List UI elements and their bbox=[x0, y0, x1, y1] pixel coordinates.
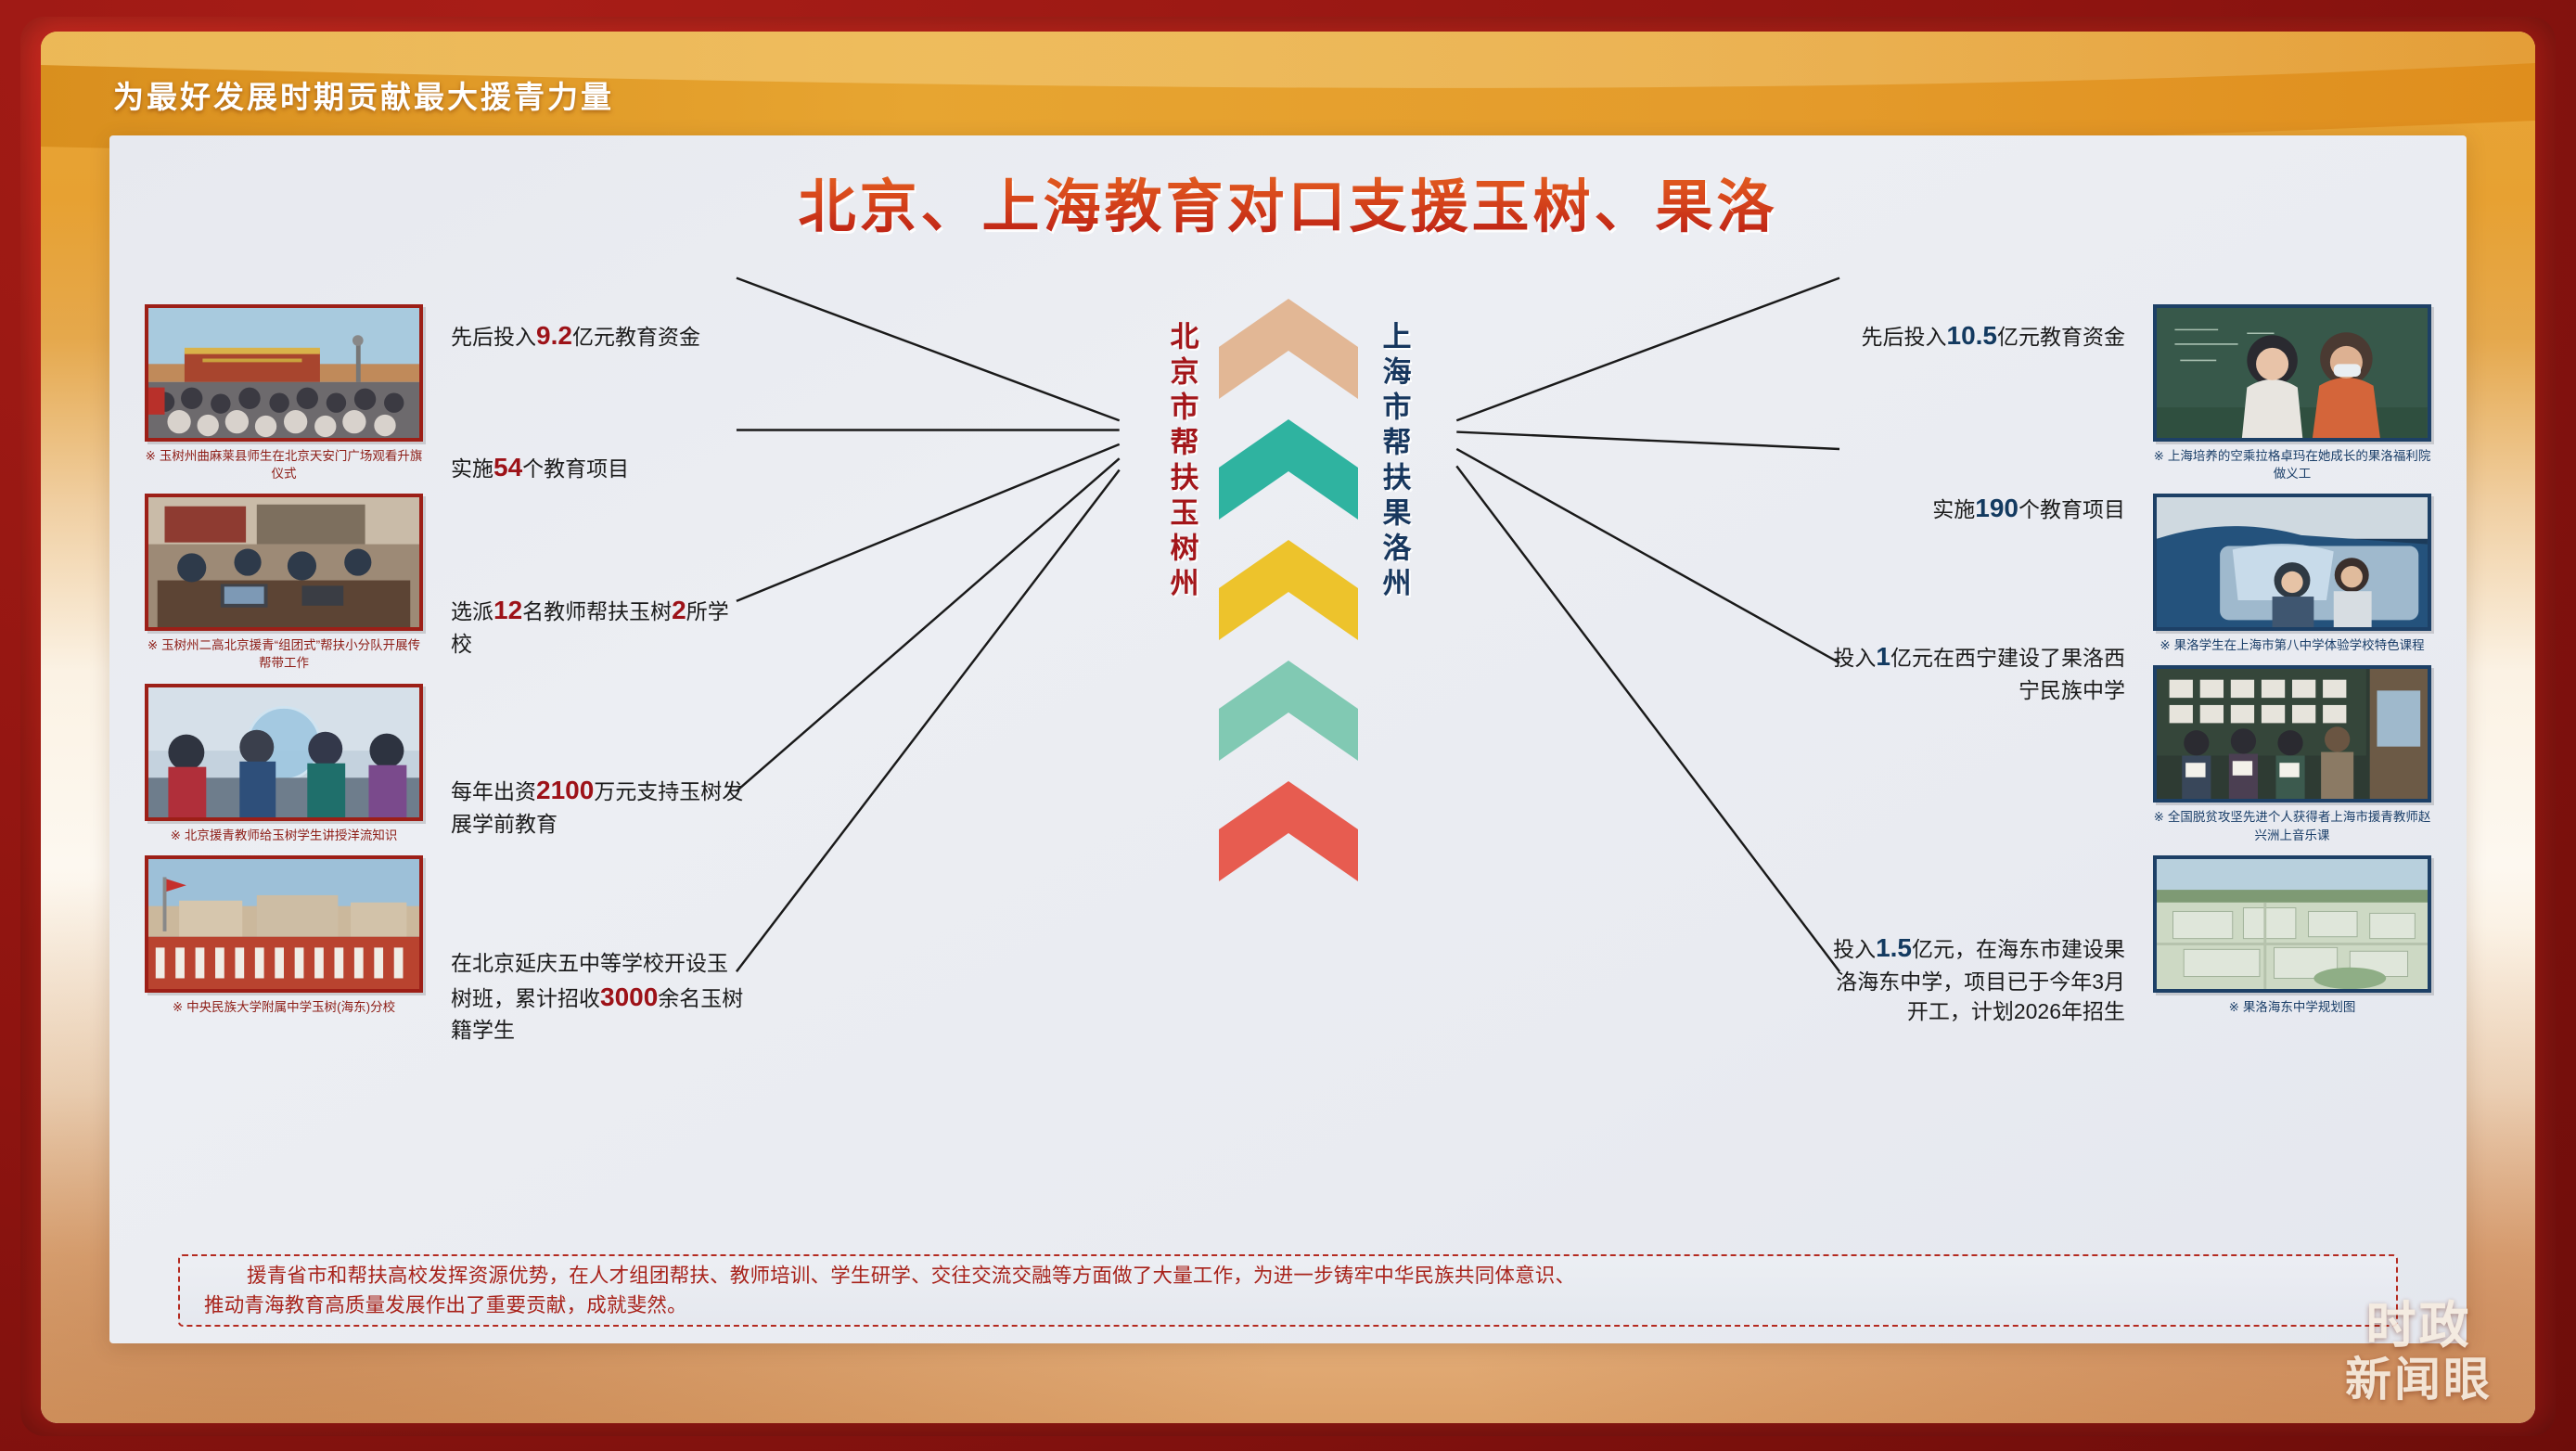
photo-column-right: ※上海培养的空乘拉格卓玛在她成长的果洛福利院做义工 bbox=[2153, 304, 2431, 1027]
stat-right-3: 投入1亿元在西宁建设了果洛西宁民族中学 bbox=[1828, 638, 2125, 705]
stat-value: 54 bbox=[493, 453, 522, 482]
caption-text: 中央民族大学附属中学玉树(海东)分校 bbox=[186, 1000, 395, 1014]
stat-right-2: 实施190个教育项目 bbox=[1828, 490, 2125, 527]
photo-item: ※玉树州曲麻莱县师生在北京天安门广场观看升旗仪式 bbox=[145, 304, 423, 482]
chevron-4 bbox=[1219, 661, 1358, 761]
stat-text: 实施 bbox=[1932, 497, 1975, 521]
photo-campus-plan bbox=[2153, 855, 2431, 993]
chevron-5 bbox=[1219, 781, 1358, 881]
stat-left-2: 实施54个教育项目 bbox=[451, 449, 748, 486]
stat-text: 亿元在西宁建设了果洛西宁民族中学 bbox=[1890, 646, 2125, 702]
stat-left-3: 选派12名教师帮扶玉树2所学校 bbox=[451, 592, 748, 659]
chevron-2 bbox=[1219, 419, 1358, 520]
stat-value: 3000 bbox=[600, 982, 658, 1011]
stat-left-1: 先后投入9.2亿元教育资金 bbox=[451, 317, 748, 354]
stat-text: 个教育项目 bbox=[522, 456, 629, 481]
photo-caption: ※北京援青教师给玉树学生讲授洋流知识 bbox=[145, 827, 423, 844]
caption-text: 玉树州曲麻莱县师生在北京天安门广场观看升旗仪式 bbox=[160, 449, 423, 481]
caption-text: 果洛学生在上海市第八中学体验学校特色课程 bbox=[2174, 638, 2425, 652]
stat-text: 名教师帮扶玉树 bbox=[522, 599, 672, 623]
caption-mark: ※ bbox=[2154, 449, 2164, 463]
photo-caption: ※玉树州二高北京援青“组团式”帮扶小分队开展传帮带工作 bbox=[145, 636, 423, 672]
content-card: 北京、上海教育对口支援玉树、果洛 bbox=[109, 135, 2467, 1343]
caption-mark: ※ bbox=[146, 449, 156, 463]
stat-right-4: 投入1.5亿元，在海东市建设果洛海东中学，项目已于今年3月开工，计划2026年招… bbox=[1828, 930, 2125, 1027]
page-title: 北京、上海教育对口支援玉树、果洛 bbox=[109, 160, 2467, 243]
caption-mark: ※ bbox=[171, 828, 181, 842]
poster-stage: 为最好发展时期贡献最大援青力量 北京、上海教育对口支援玉树、果洛 bbox=[0, 0, 2576, 1451]
stat-left-5: 在北京延庆五中等学校开设玉树班，累计招收3000余名玉树籍学生 bbox=[451, 948, 748, 1046]
summary-line-2: 推动青海教育高质量发展作出了重要贡献，成就斐然。 bbox=[204, 1290, 2372, 1320]
photo-minzu-campus bbox=[145, 855, 423, 993]
label-shanghai-support: 上海市帮扶果洛州 bbox=[1374, 321, 1416, 603]
caption-text: 全国脱贫攻坚先进个人获得者上海市援青教师赵兴洲上音乐课 bbox=[2168, 810, 2431, 841]
info-board: 为最好发展时期贡献最大援青力量 北京、上海教育对口支援玉树、果洛 bbox=[41, 32, 2535, 1423]
photo-item: ※果洛学生在上海市第八中学体验学校特色课程 bbox=[2153, 494, 2431, 654]
stat-value: 12 bbox=[493, 596, 522, 624]
chevron-1 bbox=[1219, 299, 1358, 399]
stat-text: 亿元教育资金 bbox=[572, 325, 700, 349]
label-beijing-support: 北京市帮扶玉树州 bbox=[1161, 321, 1203, 603]
caption-mark: ※ bbox=[2154, 810, 2164, 824]
stat-text: 先后投入 bbox=[451, 325, 536, 349]
caption-mark: ※ bbox=[173, 1000, 183, 1014]
photo-item: ※玉树州二高北京援青“组团式”帮扶小分队开展传帮带工作 bbox=[145, 494, 423, 672]
stat-value: 1 bbox=[1876, 642, 1890, 671]
stat-text: 个教育项目 bbox=[2019, 497, 2125, 521]
stat-value: 9.2 bbox=[536, 321, 572, 350]
stat-value: 2100 bbox=[536, 776, 594, 804]
stat-text: 每年出资 bbox=[451, 779, 536, 803]
summary-line-1: 援青省市和帮扶高校发挥资源优势，在人才组团帮扶、教师培训、学生研学、交往交流交融… bbox=[204, 1261, 2372, 1290]
photo-caption: ※中央民族大学附属中学玉树(海东)分校 bbox=[145, 998, 423, 1016]
stat-value: 1.5 bbox=[1876, 933, 1912, 962]
photo-item: ※全国脱贫攻坚先进个人获得者上海市援青教师赵兴洲上音乐课 bbox=[2153, 665, 2431, 843]
caption-mark: ※ bbox=[2159, 638, 2170, 652]
photo-volunteer bbox=[2153, 304, 2431, 442]
stat-text: 先后投入 bbox=[1862, 325, 1947, 349]
stat-value: 2 bbox=[672, 596, 686, 624]
stat-right-1: 先后投入10.5亿元教育资金 bbox=[1828, 317, 2125, 354]
photo-caption: ※全国脱贫攻坚先进个人获得者上海市援青教师赵兴洲上音乐课 bbox=[2153, 808, 2431, 843]
photo-caption: ※上海培养的空乘拉格卓玛在她成长的果洛福利院做义工 bbox=[2153, 447, 2431, 482]
photo-shanghai-no8 bbox=[2153, 494, 2431, 631]
photo-tiananmen bbox=[145, 304, 423, 442]
chevron-stack bbox=[1219, 299, 1358, 1134]
stat-text: 投入 bbox=[1833, 937, 1876, 961]
caption-text: 上海培养的空乘拉格卓玛在她成长的果洛福利院做义工 bbox=[2168, 449, 2431, 481]
photo-classroom-meeting bbox=[145, 494, 423, 631]
photo-caption: ※果洛学生在上海市第八中学体验学校特色课程 bbox=[2153, 636, 2431, 654]
caption-text: 玉树州二高北京援青“组团式”帮扶小分队开展传帮带工作 bbox=[161, 638, 420, 670]
stat-text: 实施 bbox=[451, 456, 493, 481]
photo-item: ※中央民族大学附属中学玉树(海东)分校 bbox=[145, 855, 423, 1016]
stat-value: 10.5 bbox=[1947, 321, 1998, 350]
photo-caption: ※果洛海东中学规划图 bbox=[2153, 998, 2431, 1016]
photo-caption: ※玉树州曲麻莱县师生在北京天安门广场观看升旗仪式 bbox=[145, 447, 423, 482]
chevron-3 bbox=[1219, 540, 1358, 640]
summary-box: 援青省市和帮扶高校发挥资源优势，在人才组团帮扶、教师培训、学生研学、交往交流交融… bbox=[178, 1254, 2398, 1327]
photo-item: ※上海培养的空乘拉格卓玛在她成长的果洛福利院做义工 bbox=[2153, 304, 2431, 482]
caption-text: 果洛海东中学规划图 bbox=[2243, 1000, 2356, 1014]
photo-item: ※北京援青教师给玉树学生讲授洋流知识 bbox=[145, 684, 423, 844]
header-bar: 为最好发展时期贡献最大援青力量 bbox=[41, 65, 2535, 124]
photo-music-class bbox=[2153, 665, 2431, 803]
photo-column-left: ※玉树州曲麻莱县师生在北京天安门广场观看升旗仪式 bbox=[145, 304, 423, 1027]
photo-ocean-lesson bbox=[145, 684, 423, 821]
caption-mark: ※ bbox=[147, 638, 158, 652]
stat-text: 亿元教育资金 bbox=[1997, 325, 2125, 349]
photo-item: ※果洛海东中学规划图 bbox=[2153, 855, 2431, 1016]
stat-text: 投入 bbox=[1833, 646, 1876, 670]
caption-mark: ※ bbox=[2229, 1000, 2239, 1014]
stat-left-4: 每年出资2100万元支持玉树发展学前教育 bbox=[451, 772, 748, 839]
stat-value: 190 bbox=[1975, 494, 2019, 522]
banner-title: 为最好发展时期贡献最大援青力量 bbox=[113, 72, 614, 117]
stat-text: 选派 bbox=[451, 599, 493, 623]
caption-text: 北京援青教师给玉树学生讲授洋流知识 bbox=[185, 828, 398, 842]
